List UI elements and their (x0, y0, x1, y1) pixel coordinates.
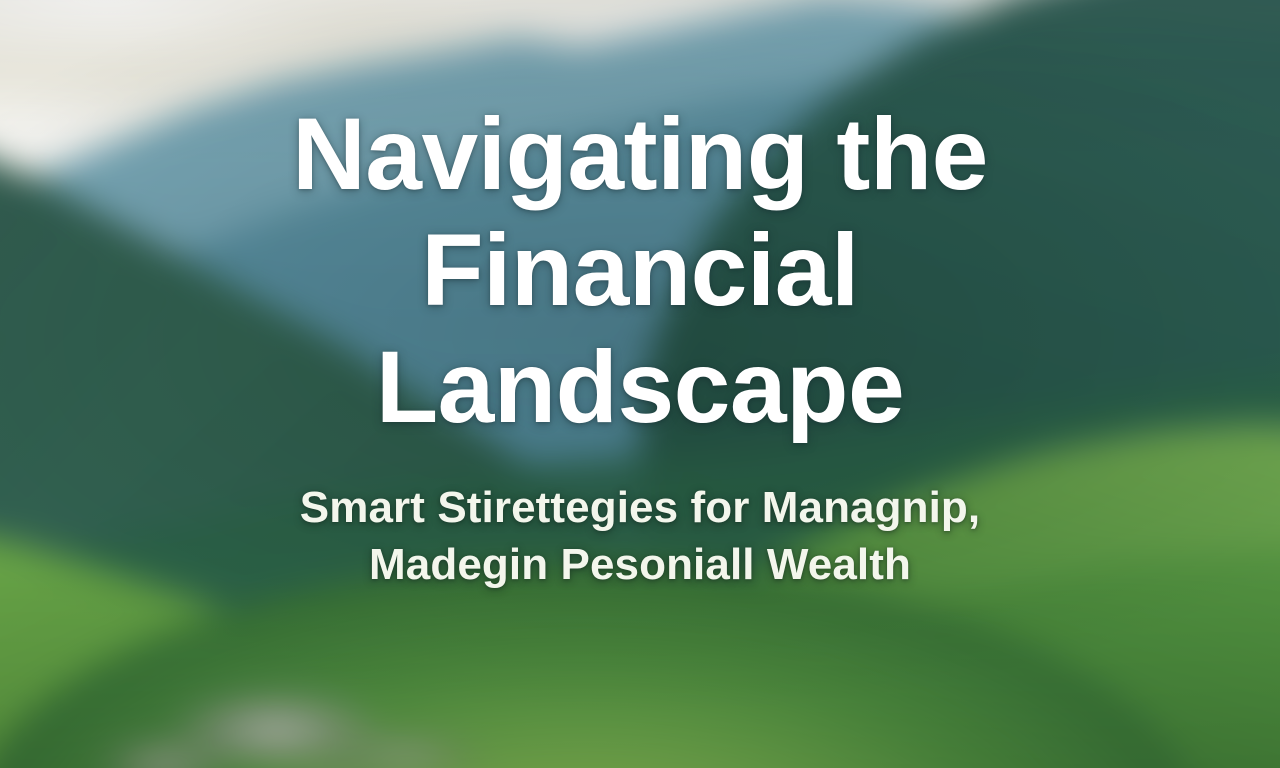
poster-subtitle: Smart Stirettegies for Managnip, Madegin… (200, 479, 1080, 593)
poster-slide: Navigating the Financial Landscape Smart… (0, 0, 1280, 768)
poster-title: Navigating the Financial Landscape (190, 96, 1090, 445)
title-line-3: Landscape (376, 330, 904, 444)
text-content: Navigating the Financial Landscape Smart… (0, 0, 1280, 768)
subtitle-line-2: Madegin Pesoniall Wealth (200, 536, 1080, 593)
title-line-2: Financial (421, 213, 859, 327)
title-line-1: Navigating the (292, 97, 988, 211)
subtitle-line-1: Smart Stirettegies for Managnip, (200, 479, 1080, 536)
